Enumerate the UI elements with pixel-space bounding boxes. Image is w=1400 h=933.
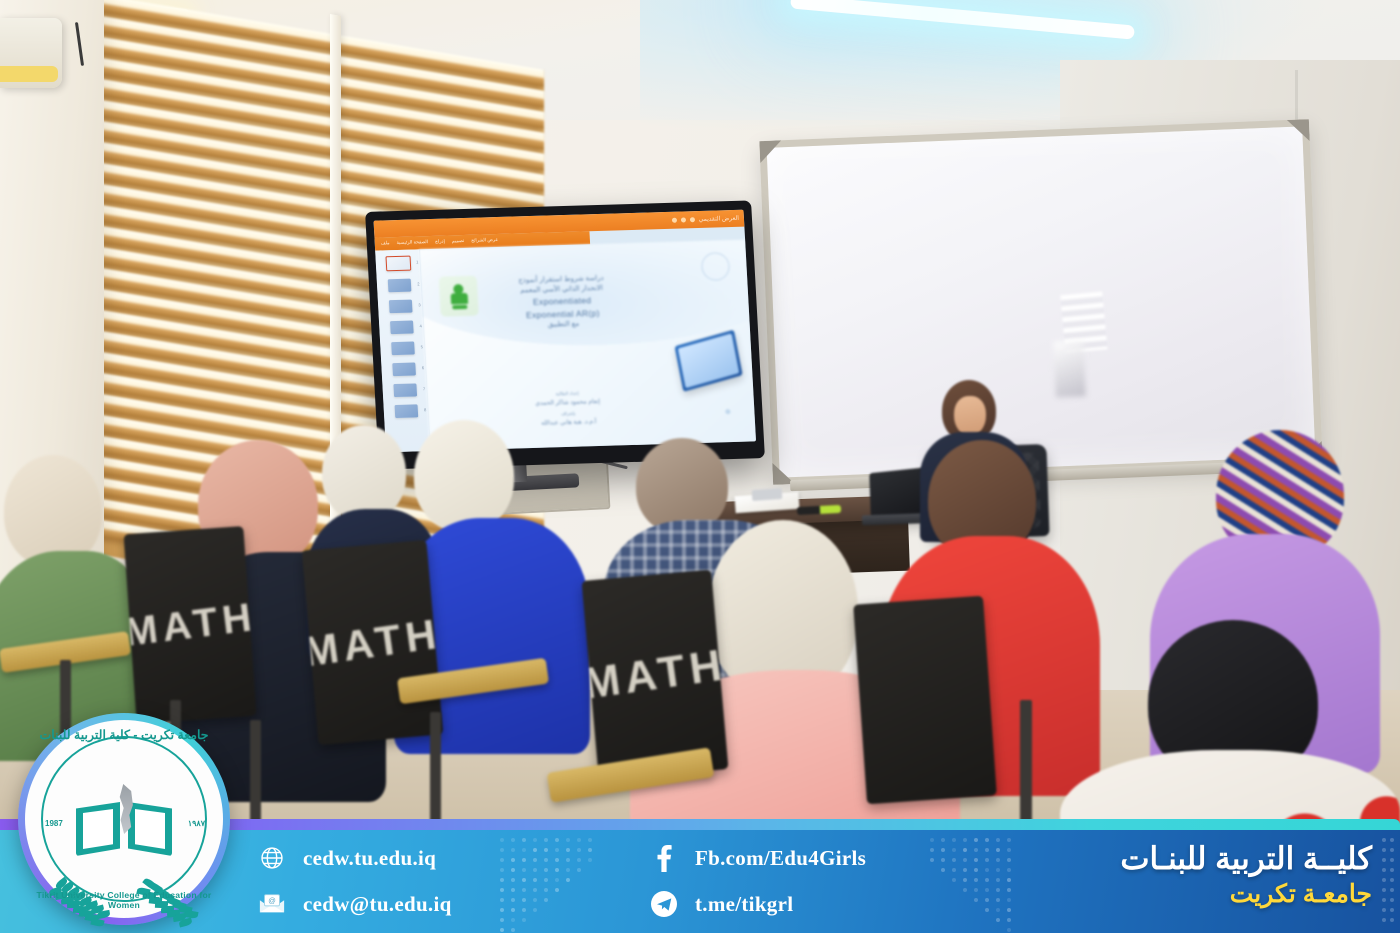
- tv-screen: العرض التقديمي ملف الصفحة الرئيسية إدراج…: [374, 210, 756, 453]
- slide-number: 2: [417, 281, 420, 286]
- slide-number: 7: [423, 386, 426, 391]
- footer-dot: [974, 868, 978, 872]
- ac-stripe: [0, 66, 58, 82]
- footer-dot: [566, 838, 570, 842]
- footer-dot: [985, 908, 989, 912]
- footer-dot: [533, 898, 537, 902]
- footer-dot: [500, 928, 504, 932]
- presenter-face: [954, 396, 986, 436]
- seal-year-arabic: ١٩٨٧: [188, 819, 205, 828]
- ribbon-tab[interactable]: إدراج: [435, 239, 445, 245]
- footer-dot: [985, 898, 989, 902]
- footer-dot: [533, 908, 537, 912]
- seal-english-text: Tikrit University College of Education f…: [25, 890, 223, 910]
- footer-dot: [996, 858, 1000, 862]
- footer-dot: [1390, 908, 1394, 912]
- book-page-inner: [83, 809, 113, 849]
- footer-dot: [963, 878, 967, 882]
- footer-dot: [511, 868, 515, 872]
- footer-dot: [1007, 858, 1011, 862]
- footer-dot: [511, 888, 515, 892]
- footer-dot: [566, 858, 570, 862]
- slide-decoration-dot: [725, 409, 730, 414]
- footer-dot: [996, 888, 1000, 892]
- footer-dot: [952, 868, 956, 872]
- website-text[interactable]: cedw.tu.edu.iq: [303, 846, 436, 871]
- footer-dot: [522, 888, 526, 892]
- footer-dot: [566, 848, 570, 852]
- whiteboard-reflection: [1053, 340, 1085, 397]
- footer-dot: [522, 858, 526, 862]
- footer-dot: [963, 888, 967, 892]
- footer-dot: [522, 848, 526, 852]
- footer-contact-column-1: cedw.tu.edu.iq @ cedw@tu.edu.iq: [258, 844, 452, 918]
- footer-dot: [1382, 858, 1386, 862]
- footer-dot: [544, 898, 548, 902]
- telegram-row[interactable]: t.me/tikgrl: [650, 890, 866, 918]
- footer-dot: [566, 868, 570, 872]
- classroom-chair: [853, 596, 997, 805]
- footer-dot: [577, 848, 581, 852]
- footer-dot: [1007, 898, 1011, 902]
- footer-dot: [930, 858, 934, 862]
- slide-thumbnail[interactable]: 6: [392, 362, 416, 376]
- footer-dot: [522, 868, 526, 872]
- footer-dot: [1007, 928, 1011, 932]
- slide-thumbnail[interactable]: 5: [391, 341, 415, 355]
- footer-dot: [500, 868, 504, 872]
- university-logo-seal: جامعة تكريت - كلية التربية للبنات 1987 ١…: [18, 713, 230, 925]
- svg-text:@: @: [268, 896, 276, 905]
- footer-dot: [544, 848, 548, 852]
- footer-dot: [985, 838, 989, 842]
- facebook-row[interactable]: Fb.com/Edu4Girls: [650, 844, 866, 872]
- footer-dot: [996, 848, 1000, 852]
- footer-dot: [566, 878, 570, 882]
- footer-dot: [930, 838, 934, 842]
- footer-dot: [511, 858, 515, 862]
- footer-dot: [941, 868, 945, 872]
- ribbon-tab[interactable]: تصميم: [452, 238, 465, 244]
- slide-number: 5: [421, 344, 424, 349]
- footer-dot: [533, 848, 537, 852]
- footer-dot: [577, 838, 581, 842]
- footer-dot: [544, 878, 548, 882]
- footer-dot: [1007, 848, 1011, 852]
- footer-dot: [533, 888, 537, 892]
- footer-dot: [1007, 878, 1011, 882]
- footer-dot: [974, 898, 978, 902]
- footer-dot: [974, 888, 978, 892]
- footer-dot: [500, 908, 504, 912]
- footer-dot: [1390, 868, 1394, 872]
- footer-dot: [963, 838, 967, 842]
- footer-dot: [544, 838, 548, 842]
- footer-dot: [1390, 848, 1394, 852]
- minimize-icon[interactable]: [690, 217, 695, 222]
- footer-dot: [952, 838, 956, 842]
- footer-dot: [963, 868, 967, 872]
- seal-year-latin: 1987: [45, 819, 63, 828]
- footer-dot: [930, 848, 934, 852]
- footer-dot: [941, 858, 945, 862]
- globe-icon: [258, 844, 286, 872]
- website-row[interactable]: cedw.tu.edu.iq: [258, 844, 452, 872]
- footer-dot: [555, 848, 559, 852]
- footer-dot: [1382, 898, 1386, 902]
- footer-dot: [1382, 868, 1386, 872]
- university-name-ar: جامعـة تكريت: [1120, 879, 1372, 910]
- footer-dot: [555, 838, 559, 842]
- footer-dot: [544, 858, 548, 862]
- chair-label: MATH: [124, 595, 257, 656]
- email-row[interactable]: @ cedw@tu.edu.iq: [258, 890, 452, 918]
- email-text[interactable]: cedw@tu.edu.iq: [303, 892, 452, 917]
- footer-dot: [996, 908, 1000, 912]
- footer-dot: [952, 878, 956, 882]
- footer-dot: [952, 848, 956, 852]
- classroom-chair-math: MATH: [124, 526, 257, 724]
- footer-dot: [533, 868, 537, 872]
- chair-leg: [250, 720, 261, 835]
- chair-leg: [1020, 700, 1032, 830]
- footer-dot: [1390, 898, 1394, 902]
- footer-dot: [1007, 918, 1011, 922]
- footer-dot: [511, 918, 515, 922]
- footer-dot: [522, 898, 526, 902]
- maximize-icon[interactable]: [681, 217, 686, 222]
- close-icon[interactable]: [672, 218, 677, 223]
- footer-contact-column-2: Fb.com/Edu4Girls t.me/tikgrl: [650, 844, 866, 918]
- footer-dot: [500, 918, 504, 922]
- attendee-black-hijab-floral: [1060, 620, 1400, 850]
- slide-number: 6: [422, 365, 425, 370]
- footer-dot: [500, 888, 504, 892]
- slide-thumbnail[interactable]: 4: [389, 321, 413, 335]
- footer-dot: [577, 868, 581, 872]
- footer-dot: [941, 838, 945, 842]
- footer-dot: [1382, 918, 1386, 922]
- footer-dot: [974, 858, 978, 862]
- footer-dot: [985, 878, 989, 882]
- slide-number: 3: [418, 302, 421, 307]
- footer-dot: [533, 878, 537, 882]
- slide-thumbnail[interactable]: 1: [385, 256, 411, 272]
- ribbon-tab[interactable]: عرض الشرائح: [471, 237, 498, 244]
- attendee-head: [322, 425, 406, 521]
- footer-dot: [555, 858, 559, 862]
- whiteboard-corner: [1287, 119, 1310, 142]
- slide-title-block: دراسة شروط استقرار أنموذج الانحدار الذات…: [471, 272, 654, 332]
- footer-dot: [1382, 888, 1386, 892]
- telegram-icon: [650, 890, 678, 918]
- slide-number: 4: [419, 323, 422, 328]
- footer-dot: [1390, 858, 1394, 862]
- attendee-head: [414, 420, 514, 532]
- footer-dot: [1007, 888, 1011, 892]
- footer-dot-pattern-edge: [1382, 838, 1396, 926]
- footer-dot: [533, 858, 537, 862]
- slide-thumbnail[interactable]: 8: [394, 404, 418, 418]
- footer-dot: [511, 928, 515, 932]
- footer-dot: [974, 838, 978, 842]
- footer-dot: [1382, 848, 1386, 852]
- footer-dot: [522, 838, 526, 842]
- footer-dot: [1007, 908, 1011, 912]
- footer-dot: [1382, 908, 1386, 912]
- footer-dot: [1390, 888, 1394, 892]
- footer-dot: [511, 878, 515, 882]
- footer-dot: [511, 848, 515, 852]
- footer-dot: [533, 838, 537, 842]
- footer-dot: [522, 918, 526, 922]
- seal-arabic-text: جامعة تكريت - كلية التربية للبنات: [25, 727, 223, 742]
- footer-dot: [1007, 868, 1011, 872]
- envelope-icon: @: [258, 890, 286, 918]
- footer-dot: [996, 868, 1000, 872]
- book-page-inner: [135, 809, 165, 849]
- facebook-icon: [650, 844, 678, 872]
- footer-dot: [985, 868, 989, 872]
- footer-dot: [963, 858, 967, 862]
- footer-dot: [1007, 838, 1011, 842]
- footer-dot: [511, 908, 515, 912]
- slide-number: 8: [424, 407, 427, 412]
- person-monument-icon: [450, 283, 468, 308]
- slide-number: 1: [416, 259, 419, 264]
- footer-dot: [555, 868, 559, 872]
- footer-dot: [996, 918, 1000, 922]
- footer-dot: [996, 838, 1000, 842]
- screenshot-root: العرض التقديمي ملف الصفحة الرئيسية إدراج…: [0, 0, 1400, 933]
- footer-dot: [1382, 838, 1386, 842]
- facebook-text[interactable]: Fb.com/Edu4Girls: [695, 846, 866, 871]
- college-name-ar: كليــة التربية للبنـات: [1120, 840, 1372, 879]
- footer-dot: [963, 848, 967, 852]
- footer-dot: [555, 878, 559, 882]
- slide-thumbnail[interactable]: 3: [388, 300, 412, 314]
- powerpoint-title-bar-right: العرض التقديمي: [671, 215, 744, 224]
- footer-dot: [1382, 878, 1386, 882]
- whiteboard-corner: [759, 140, 782, 163]
- chair-label: MATH: [302, 609, 444, 676]
- footer-dot: [974, 848, 978, 852]
- footer-dot: [500, 858, 504, 862]
- footer-dot: [952, 858, 956, 862]
- footer-dot: [555, 888, 559, 892]
- footer-dot: [985, 858, 989, 862]
- footer-dot: [522, 878, 526, 882]
- seal-emblem: [76, 782, 172, 856]
- footer-institution-block: كليــة التربية للبنـات جامعـة تكريت: [1120, 840, 1372, 910]
- footer-dot: [577, 858, 581, 862]
- footer-dot: [974, 878, 978, 882]
- footer-dot: [588, 848, 592, 852]
- chair-leg: [430, 712, 441, 832]
- footer-dot: [544, 888, 548, 892]
- footer-dot: [500, 878, 504, 882]
- seal-inner: جامعة تكريت - كلية التربية للبنات 1987 ١…: [25, 720, 223, 918]
- ribbon-tab[interactable]: ملف: [381, 240, 390, 246]
- footer-dot: [500, 848, 504, 852]
- slide-thumbnail[interactable]: 2: [387, 279, 411, 293]
- footer-dot: [588, 858, 592, 862]
- footer-dot: [996, 898, 1000, 902]
- footer-dot: [985, 848, 989, 852]
- footer-dot: [1390, 918, 1394, 922]
- footer-dot: [1390, 838, 1394, 842]
- footer-dot: [511, 898, 515, 902]
- chair-label: MATH: [582, 640, 729, 710]
- footer-dot: [500, 838, 504, 842]
- telegram-text[interactable]: t.me/tikgrl: [695, 892, 793, 917]
- classroom-chair-math: MATH: [302, 540, 444, 745]
- footer-dot: [1390, 878, 1394, 882]
- footer-dot: [941, 848, 945, 852]
- air-conditioner-unit: [0, 18, 62, 88]
- ribbon-tab[interactable]: الصفحة الرئيسية: [396, 239, 428, 246]
- footer-dot: [588, 838, 592, 842]
- slide-monitor-illustration: [674, 330, 742, 392]
- footer-dot: [500, 898, 504, 902]
- footer-dot: [522, 908, 526, 912]
- footer-dot: [544, 868, 548, 872]
- footer-dot: [985, 888, 989, 892]
- powerpoint-title-text: العرض التقديمي: [698, 215, 739, 223]
- footer-dot: [511, 838, 515, 842]
- slide-thumbnail[interactable]: 7: [393, 383, 417, 397]
- footer-dot: [996, 878, 1000, 882]
